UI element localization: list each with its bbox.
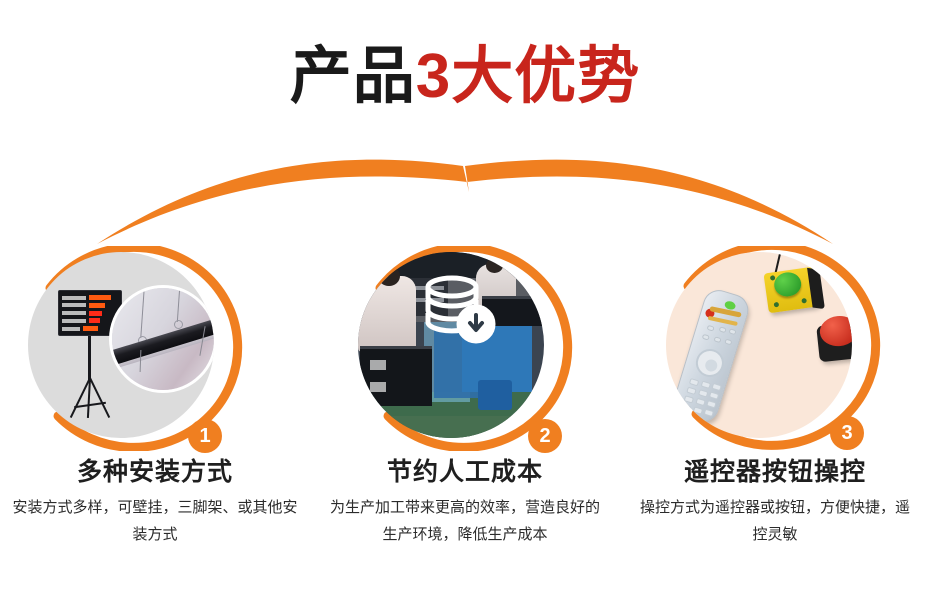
feature-description-3: 操控方式为遥控器或按钮，方便快捷，遥控灵敏 [634, 494, 916, 548]
database-download-icon [420, 274, 498, 348]
page-title-black-part: 产品 [290, 42, 416, 111]
factory-production-line-photo [358, 252, 544, 438]
feature-badge-2: 2 [528, 419, 562, 453]
tripod-pole [88, 336, 91, 382]
factory-worker-1 [358, 276, 416, 352]
orange-swoosh-arc [95, 152, 835, 248]
feature-column-1: 1 多种安装方式 安装方式多样，可壁挂，三脚架、或其他安装方式 [0, 246, 310, 586]
infographic-root: 产品3大优势 [0, 0, 930, 600]
yellow-button-box [763, 267, 818, 314]
feature-heading-2: 节约人工成本 [310, 452, 620, 488]
feature-badge-3: 3 [830, 416, 864, 450]
red-emergency-button [816, 322, 852, 362]
feature-badge-1: 1 [188, 419, 222, 453]
feature-2-visual: 2 [310, 246, 620, 451]
feature-column-2: 2 节约人工成本 为生产加工带来更高的效率，营造良好的生产环境，降低生产成本 [310, 246, 620, 586]
wall-mount-rail-inset [112, 288, 214, 390]
feature-1-visual: 1 [0, 246, 310, 451]
feature-heading-1: 多种安装方式 [0, 452, 310, 488]
feature-description-2: 为生产加工带来更高的效率，营造良好的生产环境，降低生产成本 [324, 494, 606, 548]
black-crate-front [360, 346, 432, 406]
feature-heading-3: 遥控器按钮操控 [620, 452, 930, 488]
led-display-tripod-photo [28, 252, 214, 438]
remote-control-buttons-photo [666, 252, 852, 438]
feature-column-3: 3 遥控器按钮操控 操控方式为遥控器或按钮，方便快捷，遥控灵敏 [620, 246, 930, 586]
feature-3-visual: 3 [620, 246, 930, 451]
page-title-red-part: 3大优势 [416, 42, 640, 111]
green-push-button [773, 271, 803, 299]
feature-description-1: 安装方式多样，可壁挂，三脚架、或其他安装方式 [10, 494, 300, 548]
page-title: 产品3大优势 [0, 46, 930, 108]
